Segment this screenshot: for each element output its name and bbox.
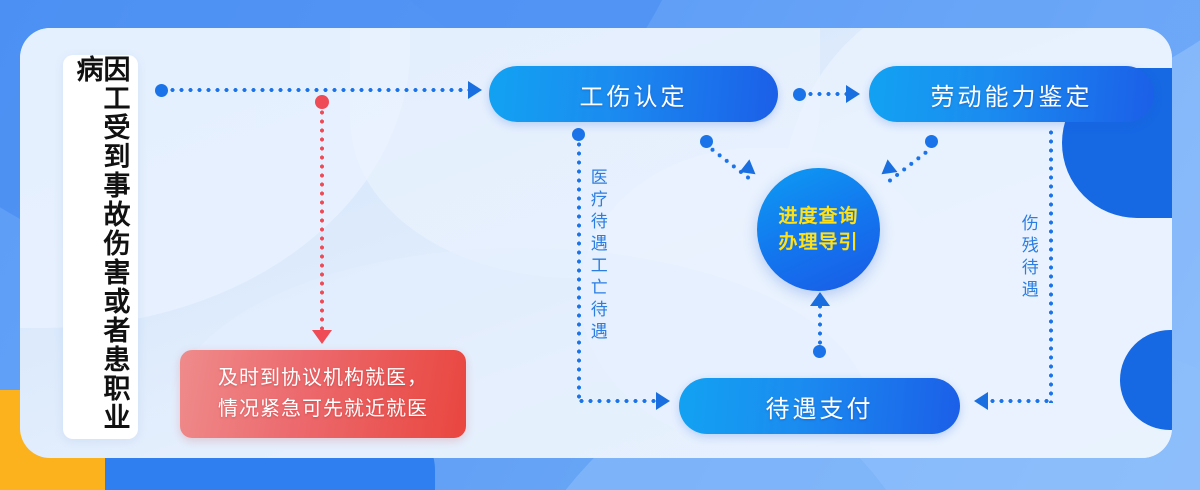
connector-start-dot: [155, 84, 168, 97]
connector-gsrd-ldnl-dot: [793, 88, 806, 101]
connector-alert-line: [320, 108, 324, 330]
connector-ldnl-dyzf-hline: [988, 399, 1051, 403]
connector-gsrd-ldnl-line: [806, 92, 848, 96]
node-work-injury-determination[interactable]: 工伤认定: [489, 66, 778, 122]
connector-gsrd-ldnl-arrow: [846, 85, 860, 103]
connector-gsrd-dyzf-arrow: [656, 392, 670, 410]
node-work-injury-determination-label: 工伤认定: [580, 77, 688, 112]
connector-ldnl-center-dot: [925, 135, 938, 148]
flowchart-stage: 因工受到事故伤害或者患职业病 医疗待遇工亡待遇 伤残待遇 工伤认定 劳动能力鉴定…: [0, 0, 1200, 490]
connector-ldnl-dyzf-vline: [1049, 128, 1053, 403]
entry-condition-card: 因工受到事故伤害或者患职业病: [63, 55, 138, 439]
connector-alert-arrow: [312, 330, 332, 344]
connector-gsrd-dyzf-vline: [577, 140, 581, 403]
path-label-medical-death: 医疗待遇工亡待遇: [587, 168, 606, 344]
alert-line1: 及时到协议机构就医，: [218, 363, 428, 394]
node-labor-capacity-appraisal-label: 劳动能力鉴定: [931, 77, 1093, 112]
node-labor-capacity-appraisal[interactable]: 劳动能力鉴定: [869, 66, 1154, 122]
alert-line2: 情况紧急可先就近就医: [218, 394, 428, 425]
node-benefit-payment-label: 待遇支付: [766, 389, 874, 424]
connector-dyzf-center-arrow: [810, 292, 830, 306]
alert-seek-treatment-box: 及时到协议机构就医， 情况紧急可先就近就医: [180, 350, 466, 438]
entry-condition-label: 因工受到事故伤害或者患职业病: [74, 55, 128, 439]
node-benefit-payment[interactable]: 待遇支付: [679, 378, 960, 434]
connector-dyzf-center-line: [818, 302, 822, 347]
connector-start-to-gsrd-line: [168, 88, 468, 92]
connector-alert-branch-dot: [315, 95, 329, 109]
connector-ldnl-dyzf-arrow: [974, 392, 988, 410]
progress-query-line1: 进度查询: [778, 204, 858, 230]
connector-start-to-gsrd-arrow: [468, 81, 482, 99]
node-progress-query-guide[interactable]: 进度查询 办理导引: [757, 168, 880, 291]
connector-gsrd-dyzf-hline: [577, 399, 656, 403]
progress-query-line2: 办理导引: [778, 230, 858, 256]
path-label-disability: 伤残待遇: [1018, 214, 1037, 302]
